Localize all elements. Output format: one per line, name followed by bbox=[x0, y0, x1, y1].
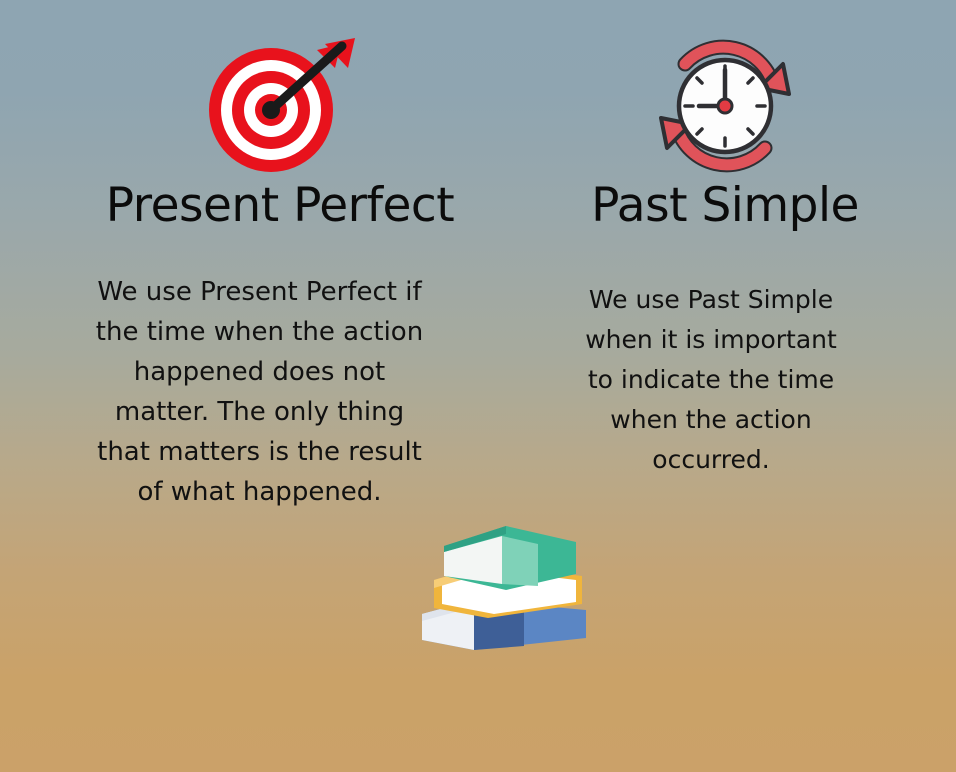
page-title-present-perfect: Present Perfect bbox=[30, 178, 530, 233]
slide-canvas: Present Perfect We use Present Perfect i… bbox=[0, 0, 956, 772]
stacked-books-icon bbox=[414, 518, 594, 663]
target-dartboard-icon bbox=[30, 30, 530, 180]
description-past-simple: We use Past Simple when it is important … bbox=[575, 280, 847, 480]
clock-with-arrows-icon bbox=[525, 36, 925, 176]
page-title-past-simple: Past Simple bbox=[525, 178, 925, 233]
description-present-perfect: We use Present Perfect if the time when … bbox=[92, 272, 427, 512]
